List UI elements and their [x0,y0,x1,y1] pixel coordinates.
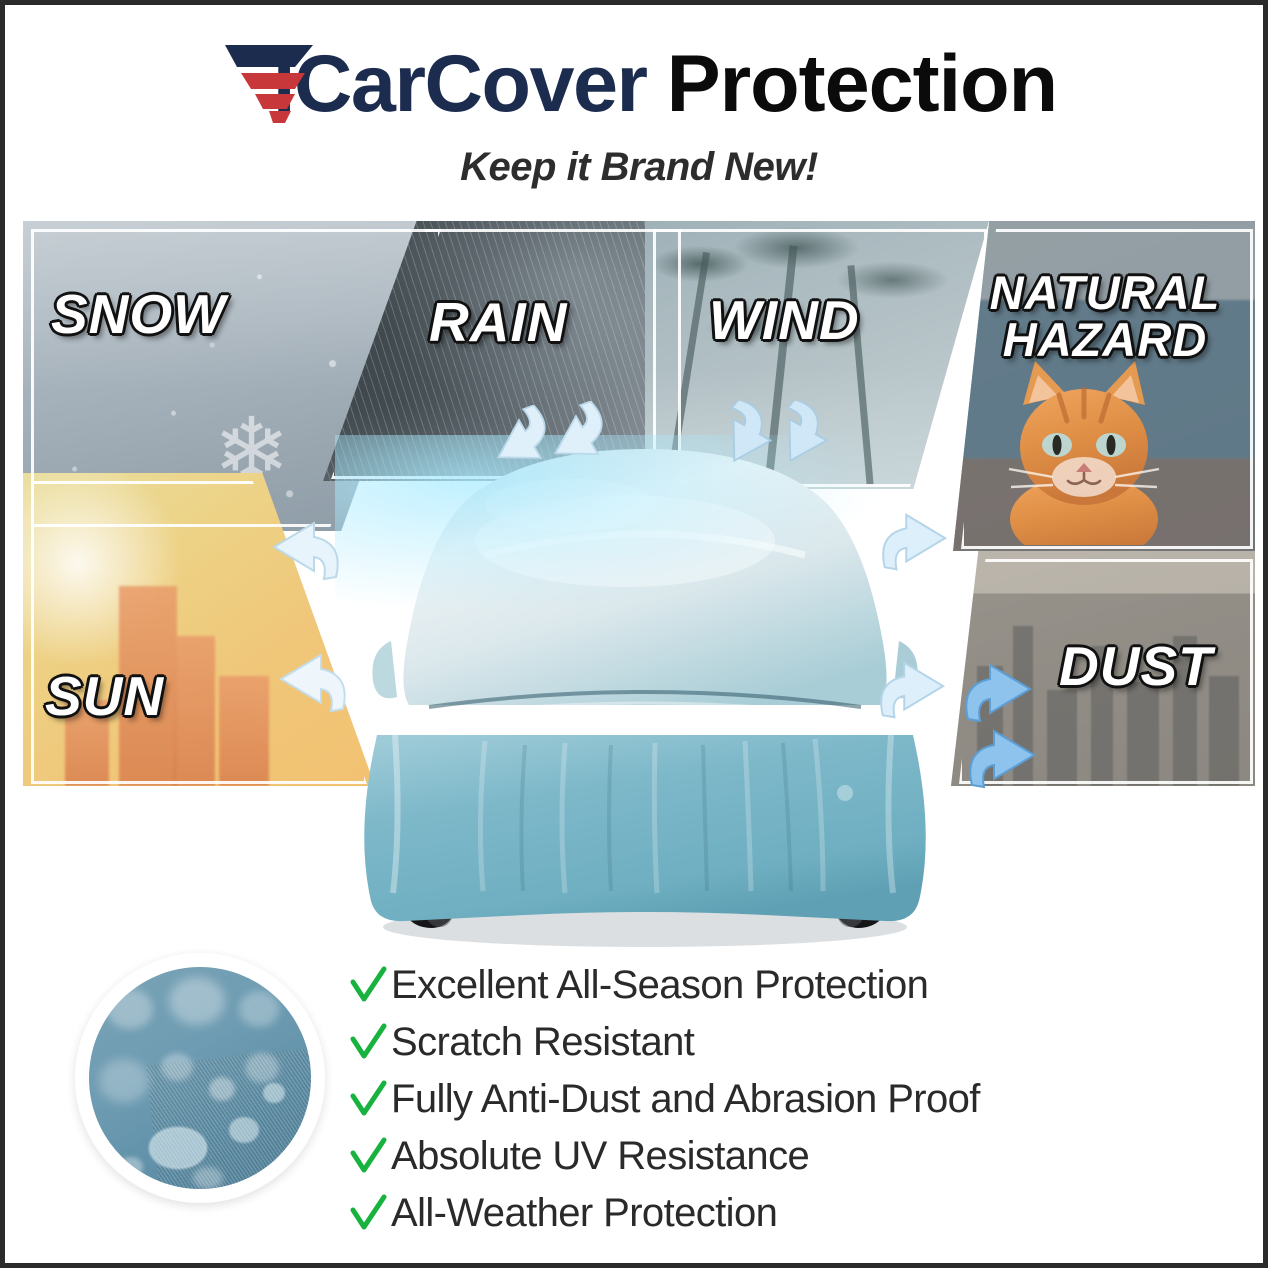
curved-deflection-arrow-icon [260,513,350,589]
green-checkmark-icon [345,966,391,1006]
building-shape [1209,676,1239,786]
curved-deflection-arrow-icon [267,645,357,721]
feature-list: Excellent All-Season Protection Scratch … [345,957,1165,1242]
list-item: Excellent All-Season Protection [345,957,1165,1014]
feature-label: All-Weather Protection [391,1191,777,1236]
product-infographic: ICarCover Protection Keep it Brand New! … [0,0,1268,1268]
feature-label: Excellent All-Season Protection [391,963,928,1008]
swatch-photo [89,967,311,1189]
brand-lockup: ICarCover Protection [221,29,1057,139]
green-checkmark-icon [345,1194,391,1234]
green-checkmark-icon [345,1137,391,1177]
icarcover-flag-logo-icon [221,41,317,127]
curved-deflection-arrow-icon [957,721,1049,797]
feature-label: Absolute UV Resistance [391,1134,809,1179]
list-item: Scratch Resistant [345,1014,1165,1071]
list-item: All-Weather Protection [345,1185,1165,1242]
panel-label-dust: DUST [1059,639,1213,694]
brand-name-icarcover: ICarCover [273,41,647,127]
curved-deflection-arrow-icon [537,401,619,471]
panel-label-rain: RAIN [429,295,567,350]
curved-deflection-arrow-icon [871,505,959,579]
building-shape [219,676,269,786]
list-item: Absolute UV Resistance [345,1128,1165,1185]
brand-word-protection: Protection [667,41,1058,127]
brand-core: CarCover [294,39,647,129]
curved-deflection-arrow-icon [761,401,841,469]
panel-label-sun: SUN [45,669,164,724]
feature-label: Fully Anti-Dust and Abrasion Proof [391,1077,980,1122]
cat-icon [989,359,1167,535]
panel-label-natural-hazard: NATURAL HAZARD [971,269,1239,363]
tagline: Keep it Brand New! [460,145,818,190]
building-shape [1127,682,1159,786]
building-shape [1047,690,1077,786]
list-item: Fully Anti-Dust and Abrasion Proof [345,1071,1165,1128]
curved-deflection-arrow-icon [953,655,1045,731]
header: ICarCover Protection Keep it Brand New! [5,5,1268,205]
feature-label: Scratch Resistant [391,1020,694,1065]
panel-label-wind: WIND [709,293,860,348]
panel-label-snow: SNOW [51,287,226,342]
green-checkmark-icon [345,1023,391,1063]
cover-highlight-glow [335,435,955,635]
green-checkmark-icon [345,1080,391,1120]
building-shape [173,636,215,786]
curved-deflection-arrow-icon [869,653,957,727]
water-beading-fabric-closeup [75,953,325,1203]
cover-lower-body [364,735,925,921]
